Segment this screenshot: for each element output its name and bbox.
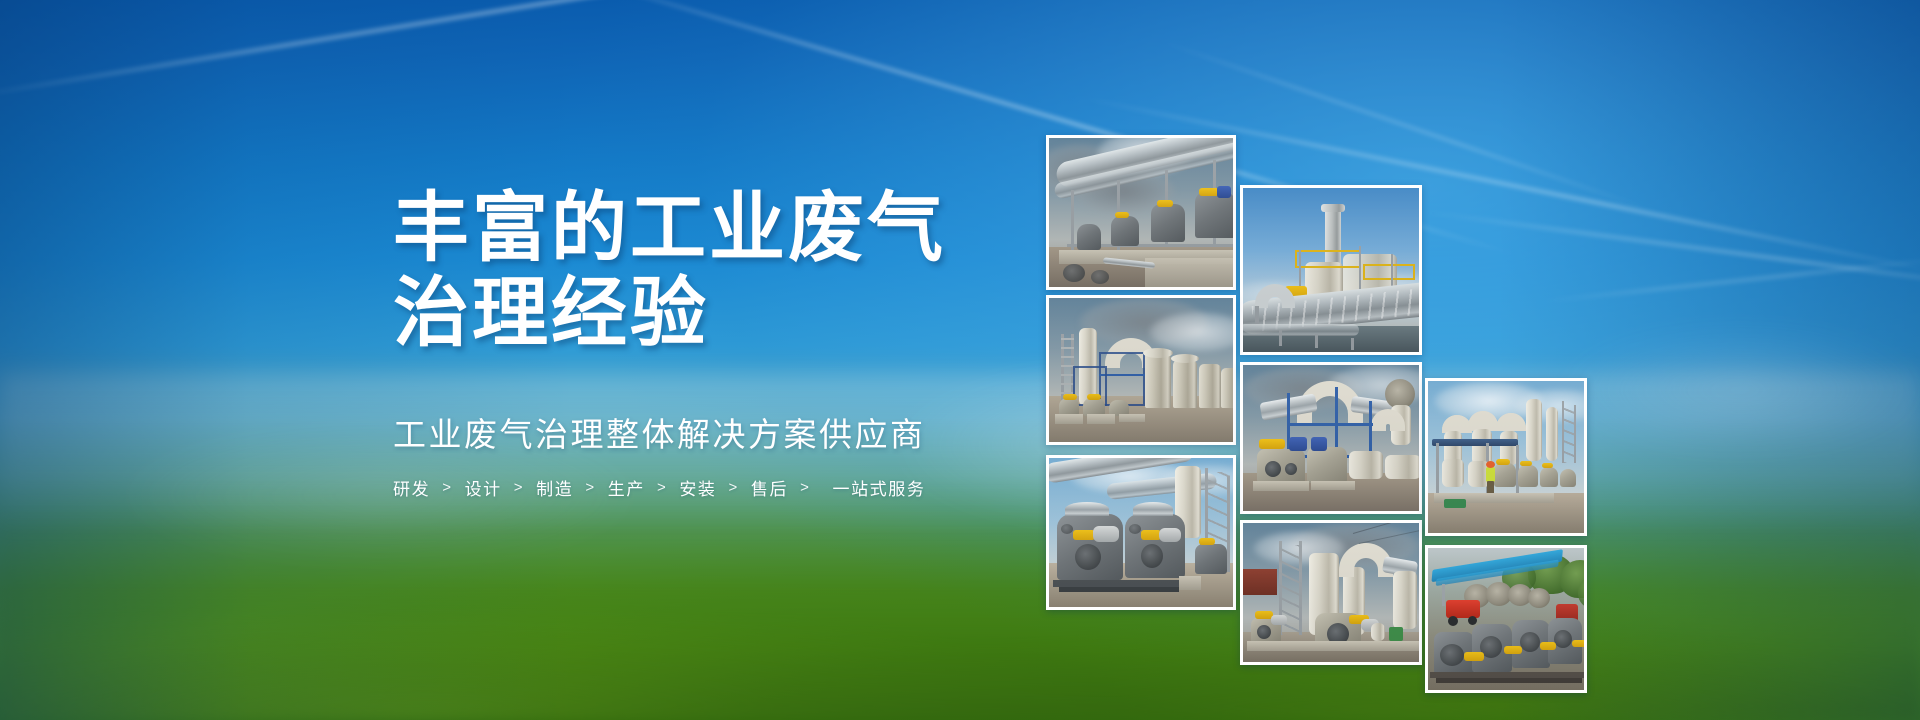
breadcrumb-step-6: 售后: [751, 475, 788, 500]
hero-banner: 丰富的工业废气 治理经验 工业废气治理整体解决方案供应商 研发 > 设计 > 制…: [0, 0, 1920, 720]
gallery-photo-scrubber-tower-array[interactable]: [1046, 295, 1236, 445]
breadcrumb: 研发 > 设计 > 制造 > 生产 > 安装 > 售后 > 一站式服务: [393, 475, 1013, 500]
chevron-right-icon: >: [514, 479, 524, 496]
breadcrumb-step-4: 生产: [608, 475, 645, 500]
hero-copy: 丰富的工业废气 治理经验 工业废气治理整体解决方案供应商 研发 > 设计 > 制…: [393, 186, 1013, 500]
gallery-photo-rto-incinerator-duct[interactable]: [1240, 185, 1422, 355]
gallery-photo-spray-tower-plant[interactable]: [1240, 520, 1422, 665]
gallery-photo-field-install-line[interactable]: [1425, 378, 1587, 536]
headline-line-2: 治理经验: [393, 271, 1013, 356]
gallery-photo-fan-array-rooftop[interactable]: [1240, 362, 1422, 514]
breadcrumb-step-2: 设计: [465, 475, 502, 500]
chevron-right-icon: >: [729, 479, 739, 496]
gallery-photo-fan-shipment-yard[interactable]: [1425, 545, 1587, 693]
chevron-right-icon: >: [800, 479, 810, 496]
chevron-right-icon: >: [442, 479, 452, 496]
gallery-photo-centrifugal-fan-row[interactable]: [1046, 455, 1236, 610]
hero-subtitle: 工业废气治理整体解决方案供应商: [393, 414, 1013, 455]
breadcrumb-step-5: 安装: [679, 475, 716, 500]
gallery-photo-rto-pipeline-rack[interactable]: [1046, 135, 1236, 290]
headline-line-1: 丰富的工业废气: [393, 186, 946, 271]
chevron-right-icon: >: [585, 479, 595, 496]
chevron-right-icon: >: [657, 479, 667, 496]
hero-headline: 丰富的工业废气 治理经验: [393, 186, 1013, 356]
breadcrumb-final: 一站式服务: [832, 475, 925, 500]
breadcrumb-step-1: 研发: [393, 475, 430, 500]
breadcrumb-step-3: 制造: [536, 475, 573, 500]
